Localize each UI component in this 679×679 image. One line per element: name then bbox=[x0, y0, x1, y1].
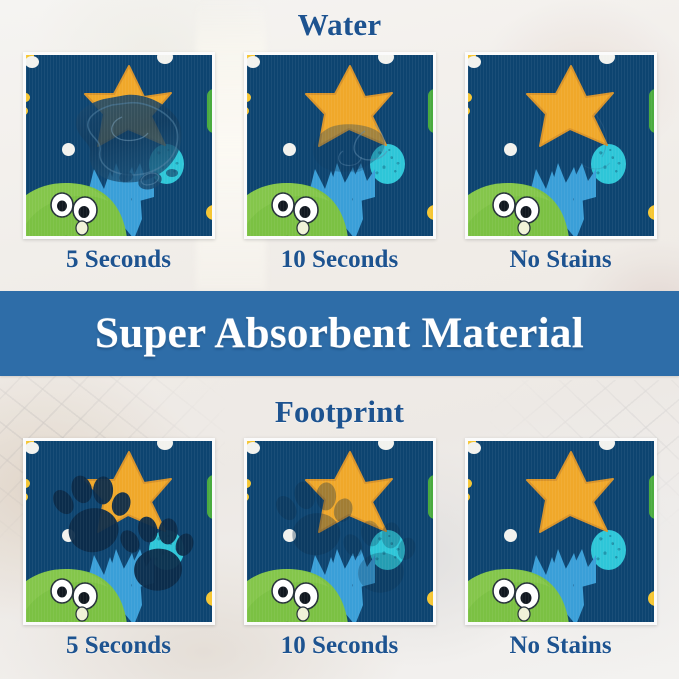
pattern-edge-green bbox=[207, 475, 215, 519]
tile-footprint-no-stains[interactable]: No Stains bbox=[465, 438, 657, 659]
pattern-edge-yellow bbox=[206, 205, 215, 220]
dinosaur-icon bbox=[23, 157, 154, 239]
pattern-dot-white bbox=[283, 529, 296, 542]
pattern-dot-teal bbox=[591, 144, 626, 184]
pattern-edge-yellow bbox=[648, 205, 657, 220]
tile-caption: No Stains bbox=[465, 247, 657, 273]
tile-caption: 10 Seconds bbox=[244, 633, 436, 659]
pattern-dot-white bbox=[467, 56, 481, 68]
tile-caption: 5 Seconds bbox=[23, 633, 215, 659]
pattern-edge-yellow bbox=[427, 205, 436, 220]
dinosaur-icon bbox=[465, 157, 596, 239]
tile-water-5-seconds[interactable]: 5 Seconds bbox=[23, 52, 215, 273]
pattern-edge-yellow bbox=[465, 107, 470, 115]
fabric-swatch bbox=[465, 438, 657, 625]
pattern-edge-green bbox=[428, 475, 436, 519]
pattern-dot-teal bbox=[370, 530, 405, 570]
pattern-edge-yellow bbox=[244, 479, 251, 488]
tile-caption: 5 Seconds bbox=[23, 247, 215, 273]
pattern-edge-green bbox=[428, 89, 436, 133]
fabric-swatch bbox=[23, 52, 215, 239]
tile-water-10-seconds[interactable]: 10 Seconds bbox=[244, 52, 436, 273]
pattern-edge-green bbox=[207, 89, 215, 133]
pattern-dot-white bbox=[504, 143, 517, 156]
pattern-dot-teal bbox=[149, 530, 184, 570]
pattern-dot-white bbox=[246, 442, 260, 454]
pattern-dot-white bbox=[283, 143, 296, 156]
pattern-edge-yellow bbox=[23, 107, 28, 115]
pattern-edge-yellow bbox=[244, 93, 251, 102]
banner-super-absorbent-material: Super Absorbent Material bbox=[0, 291, 679, 376]
pattern-edge-yellow bbox=[23, 93, 30, 102]
tile-water-no-stains[interactable]: No Stains bbox=[465, 52, 657, 273]
dinosaur-icon bbox=[244, 543, 375, 625]
fabric-swatch bbox=[23, 438, 215, 625]
tile-caption: No Stains bbox=[465, 633, 657, 659]
pattern-dot-white bbox=[62, 143, 75, 156]
section-title-water: Water bbox=[0, 9, 679, 40]
section-water: Water bbox=[0, 0, 679, 291]
tile-caption: 10 Seconds bbox=[244, 247, 436, 273]
pattern-edge-yellow bbox=[465, 93, 472, 102]
pattern-edge-yellow bbox=[206, 591, 215, 606]
pattern-edge-yellow bbox=[23, 493, 28, 501]
section-footprint: Footprint bbox=[0, 380, 679, 679]
tile-row-water: 5 Seconds bbox=[0, 52, 679, 273]
tile-row-footprint: 5 Seconds bbox=[0, 438, 679, 659]
pattern-dot-white bbox=[25, 442, 39, 454]
pattern-edge-yellow bbox=[23, 479, 30, 488]
pattern-edge-yellow bbox=[244, 107, 249, 115]
pattern-dot-white bbox=[246, 56, 260, 68]
dinosaur-icon bbox=[465, 543, 596, 625]
pattern-edge-yellow bbox=[465, 479, 472, 488]
fabric-swatch bbox=[244, 52, 436, 239]
dinosaur-icon bbox=[244, 157, 375, 239]
fabric-swatch bbox=[465, 52, 657, 239]
tile-footprint-5-seconds[interactable]: 5 Seconds bbox=[23, 438, 215, 659]
banner-text: Super Absorbent Material bbox=[95, 312, 584, 355]
pattern-dot-teal bbox=[370, 144, 405, 184]
fabric-swatch bbox=[244, 438, 436, 625]
pattern-edge-yellow bbox=[648, 591, 657, 606]
tile-footprint-10-seconds[interactable]: 10 Seconds bbox=[244, 438, 436, 659]
pattern-dot-teal bbox=[591, 530, 626, 570]
pattern-dot-teal bbox=[149, 144, 184, 184]
section-title-footprint: Footprint bbox=[0, 396, 679, 427]
pattern-edge-yellow bbox=[465, 493, 470, 501]
pattern-dot-white bbox=[25, 56, 39, 68]
dinosaur-icon bbox=[23, 543, 154, 625]
pattern-edge-yellow bbox=[244, 493, 249, 501]
pattern-dot-white bbox=[504, 529, 517, 542]
pattern-edge-green bbox=[649, 475, 657, 519]
pattern-dot-white bbox=[467, 442, 481, 454]
pattern-edge-green bbox=[649, 89, 657, 133]
pattern-edge-yellow bbox=[427, 591, 436, 606]
pattern-dot-white bbox=[62, 529, 75, 542]
